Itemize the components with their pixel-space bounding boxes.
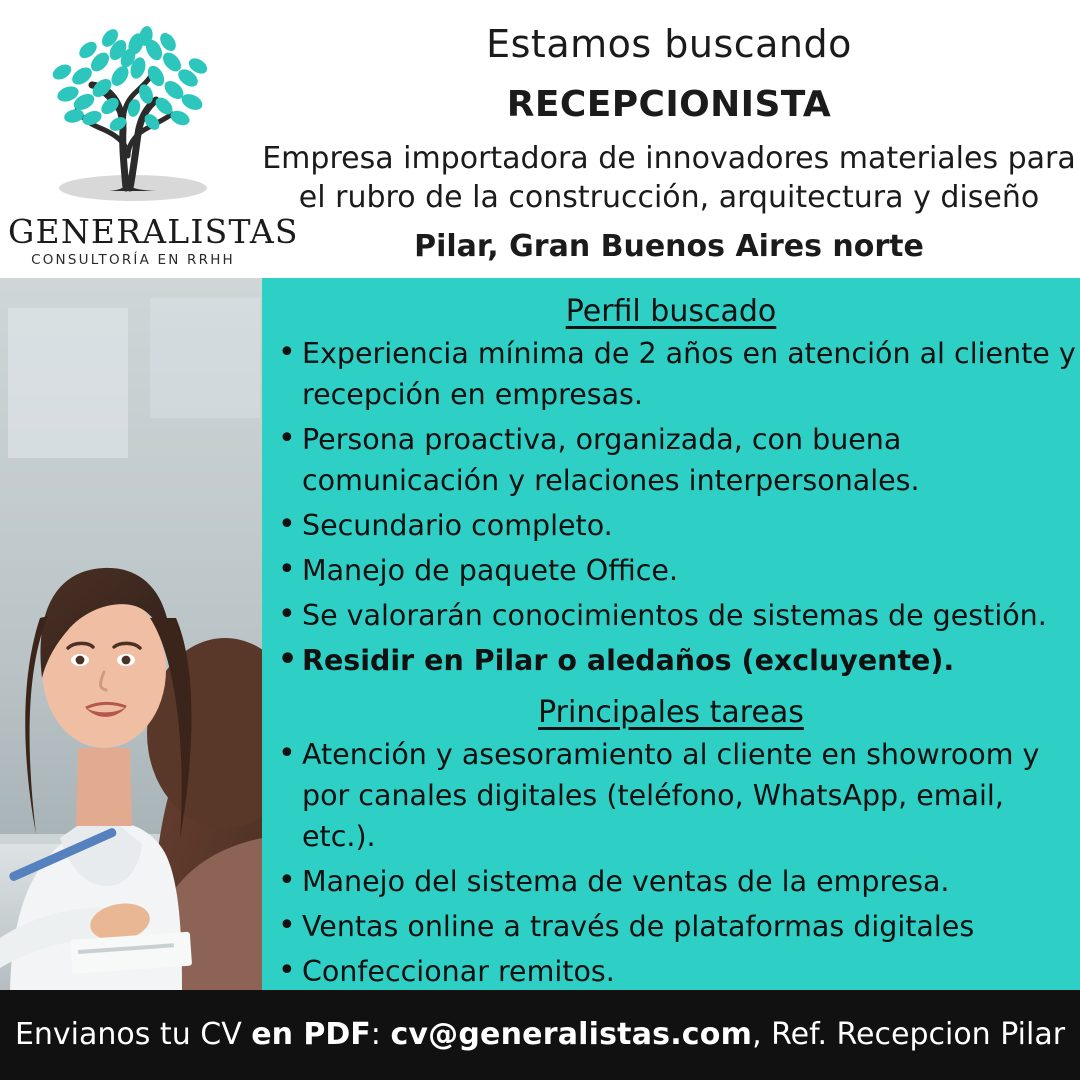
list-item: Persona proactiva, organizada, con buena… bbox=[262, 419, 1080, 501]
brand-name: GENERALISTAS bbox=[8, 212, 258, 251]
tasks-list: Atención y asesoramiento al cliente en s… bbox=[262, 734, 1080, 992]
profile-list: Experiencia mínima de 2 años en atención… bbox=[262, 333, 1080, 681]
list-item: Experiencia mínima de 2 años en atención… bbox=[262, 333, 1080, 415]
requirements-panel: Perfil buscado Experiencia mínima de 2 a… bbox=[262, 278, 1080, 990]
poster-header: GENERALISTAS CONSULTORÍA EN RRHH Estamos… bbox=[0, 0, 1080, 278]
contact-email[interactable]: cv@generalistas.com bbox=[390, 1017, 752, 1052]
company-description-line1: Empresa importadora de innovadores mater… bbox=[258, 139, 1080, 178]
receptionist-photo bbox=[0, 278, 262, 990]
footer-colon: : bbox=[371, 1017, 391, 1052]
job-location: Pilar, Gran Buenos Aires norte bbox=[258, 229, 1080, 264]
job-title: RECEPCIONISTA bbox=[258, 84, 1080, 125]
list-item: Secundario completo. bbox=[262, 505, 1080, 546]
poster-footer: Envianos tu CV en PDF: cv@generalistas.c… bbox=[0, 990, 1080, 1080]
poster-body: Perfil buscado Experiencia mínima de 2 a… bbox=[0, 278, 1080, 990]
list-item: Residir en Pilar o aledaños (excluyente)… bbox=[262, 640, 1080, 681]
list-item: Confeccionar remitos. bbox=[262, 951, 1080, 992]
list-item: Manejo de paquete Office. bbox=[262, 550, 1080, 591]
list-item: Ventas online a través de plataformas di… bbox=[262, 906, 1080, 947]
company-description-line2: el rubro de la construcción, arquitectur… bbox=[258, 178, 1080, 217]
brand-logo-block: GENERALISTAS CONSULTORÍA EN RRHH bbox=[8, 4, 258, 276]
list-item: Atención y asesoramiento al cliente en s… bbox=[262, 734, 1080, 857]
list-item: Se valorarán conocimientos de sistemas d… bbox=[262, 595, 1080, 636]
footer-prefix: Envianos tu CV bbox=[15, 1017, 251, 1052]
profile-section-title: Perfil buscado bbox=[262, 278, 1080, 329]
footer-pdf-emphasis: en PDF bbox=[251, 1017, 371, 1052]
tasks-section-title: Principales tareas bbox=[262, 681, 1080, 730]
tree-logo-icon bbox=[22, 6, 244, 206]
list-item: Manejo del sistema de ventas de la empre… bbox=[262, 861, 1080, 902]
photo-illustration bbox=[0, 278, 262, 990]
footer-reference: , Ref. Recepcion Pilar bbox=[752, 1017, 1065, 1052]
header-intro: Estamos buscando bbox=[258, 22, 1080, 66]
contact-line: Envianos tu CV en PDF: cv@generalistas.c… bbox=[0, 990, 1080, 1080]
brand-subtitle: CONSULTORÍA EN RRHH bbox=[8, 252, 258, 268]
job-posting-poster: GENERALISTAS CONSULTORÍA EN RRHH Estamos… bbox=[0, 0, 1080, 1080]
header-text-block: Estamos buscando RECEPCIONISTA Empresa i… bbox=[258, 0, 1080, 264]
